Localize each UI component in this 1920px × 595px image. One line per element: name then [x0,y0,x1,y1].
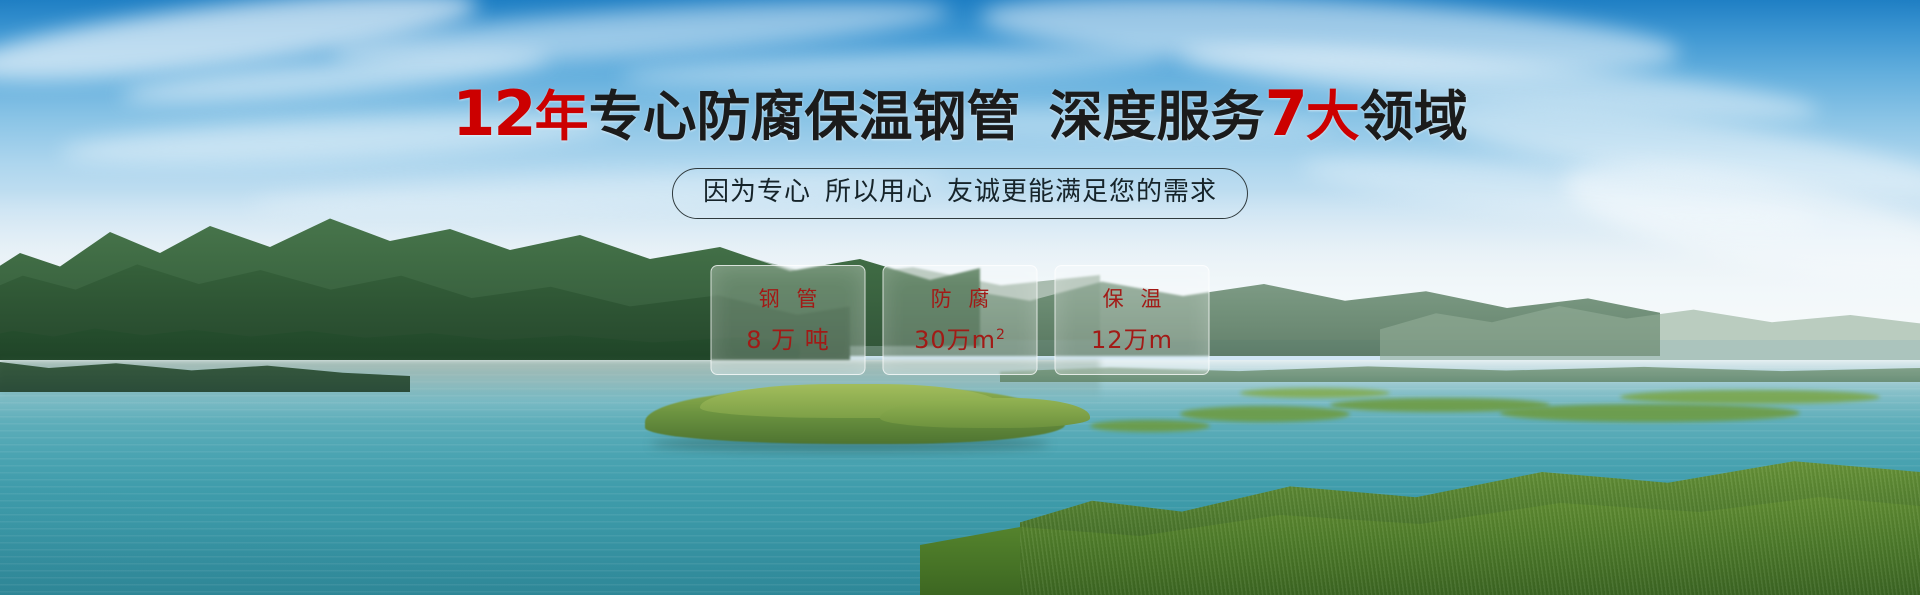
subtitle-segment-3: 友诚更能满足您的需求 [947,177,1217,207]
subtitle-segment-2: 所以用心 [825,177,933,207]
banner-headline: 12年专心防腐保温钢管深度服务7大领域 [0,83,1920,145]
headline-years-number: 12 [452,77,534,150]
stat-card-anticorrosion: 防 腐 30万m2 [883,265,1038,375]
stat-card-value-exponent: 2 [996,327,1006,343]
stat-card-value: 30万m2 [914,328,1006,352]
stat-card-value-text: 8 万 吨 [746,326,830,354]
headline-fields-number: 7 [1265,77,1306,150]
headline-part3: 领域 [1360,85,1468,148]
stat-card-label: 防 腐 [926,289,995,310]
stat-card-value: 12万m [1091,328,1173,352]
stat-card-insulation: 保 温 12万m [1055,265,1210,375]
headline-part2: 深度服务 [1049,85,1265,148]
subtitle-segment-1: 因为专心 [703,177,811,207]
stat-card-group: 钢 管 8 万 吨 防 腐 30万m2 保 温 12万m [711,265,1210,375]
banner-overlay: 12年专心防腐保温钢管深度服务7大领域 因为专心所以用心友诚更能满足您的需求 钢… [0,0,1920,595]
headline-part1: 专心防腐保温钢管 [589,85,1021,148]
stat-card-label: 钢 管 [754,289,823,310]
stat-card-label: 保 温 [1098,289,1167,310]
hero-banner: 12年专心防腐保温钢管深度服务7大领域 因为专心所以用心友诚更能满足您的需求 钢… [0,0,1920,595]
stat-card-steel-pipe: 钢 管 8 万 吨 [711,265,866,375]
banner-subtitle-pill: 因为专心所以用心友诚更能满足您的需求 [672,168,1248,219]
stat-card-value-text: 30万m [914,326,996,354]
headline-fields-unit: 大 [1306,85,1360,148]
headline-years-unit: 年 [535,85,589,148]
stat-card-value-text: 12万m [1091,326,1173,354]
stat-card-value: 8 万 吨 [746,328,830,352]
